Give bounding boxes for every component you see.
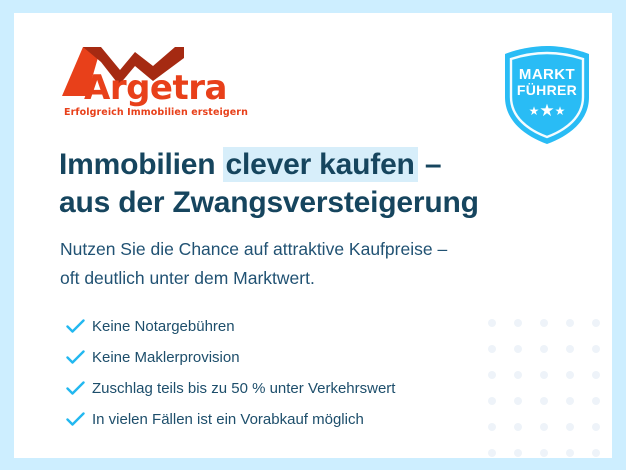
check-icon [66,412,92,427]
decorative-dot [592,423,600,431]
decorative-dot [566,449,574,457]
promo-banner: Argetra Erfolgreich Immobilien ersteiger… [0,0,626,470]
headline-line-2: aus der Zwangsversteigerung [59,186,479,219]
market-leader-badge: MARKT FÜHRER ★ ★ ★ [501,45,593,145]
logo-wordmark: Argetra [84,71,227,105]
decorative-dot [540,371,548,379]
decorative-dot [592,319,600,327]
decorative-dot [566,371,574,379]
list-item: Keine Notargebühren [66,311,536,342]
logo-tagline: Erfolgreich Immobilien ersteigern [64,107,248,118]
list-item-label: Keine Notargebühren [92,318,235,336]
subheadline: Nutzen Sie die Chance auf attraktive Kau… [60,235,580,293]
argetra-logo[interactable]: Argetra Erfolgreich Immobilien ersteiger… [57,44,247,132]
decorative-dot [540,423,548,431]
list-item: In vielen Fällen ist ein Vorabkauf mögli… [66,404,536,435]
list-item-label: Keine Maklerprovision [92,349,240,367]
decorative-dot [540,397,548,405]
headline-highlight: clever kaufen [223,147,418,182]
headline-part-1: Immobilien [59,148,224,181]
list-item: Zuschlag teils bis zu 50 % unter Verkehr… [66,373,536,404]
decorative-dot [592,371,600,379]
decorative-dot [540,319,548,327]
decorative-dot [592,345,600,353]
list-item: Keine Maklerprovision [66,342,536,373]
decorative-dot [566,319,574,327]
check-icon [66,350,92,365]
decorative-dot [592,449,600,457]
decorative-dot [540,345,548,353]
benefits-checklist: Keine Notargebühren Keine Maklerprovisio… [66,311,536,435]
content-card: Argetra Erfolgreich Immobilien ersteiger… [14,13,612,458]
subheadline-line-2: oft deutlich unter dem Marktwert. [60,268,315,288]
decorative-dot [566,345,574,353]
decorative-dot [592,397,600,405]
list-item-label: In vielen Fällen ist ein Vorabkauf mögli… [92,411,364,429]
headline-part-2: – [417,148,442,181]
decorative-dot [514,449,522,457]
decorative-dot [566,423,574,431]
decorative-dot [488,449,496,457]
subheadline-line-1: Nutzen Sie die Chance auf attraktive Kau… [60,239,447,259]
decorative-dot [566,397,574,405]
shield-icon [501,45,593,145]
list-item-label: Zuschlag teils bis zu 50 % unter Verkehr… [92,380,395,398]
check-icon [66,319,92,334]
check-icon [66,381,92,396]
decorative-dot [540,449,548,457]
headline: Immobilien clever kaufen – aus der Zwang… [59,146,579,222]
